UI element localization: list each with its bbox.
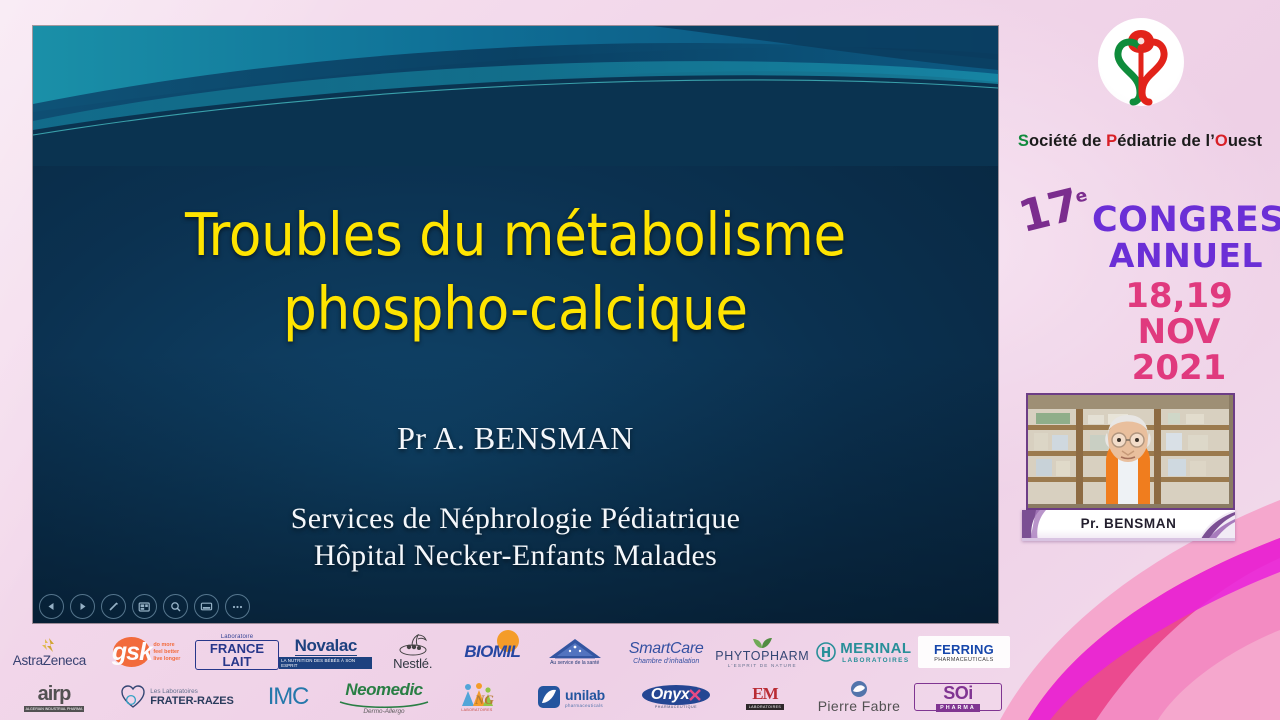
- saidal-mark-icon: [547, 638, 603, 660]
- onyx-x-icon: [689, 689, 701, 701]
- neomedic-label: Neomedic: [345, 680, 422, 700]
- merinal-mark-icon: [816, 642, 836, 662]
- astrazeneca-logo: AstraZeneca: [0, 630, 99, 674]
- smartcare-logo: SmartCare Chambre d’inhalation: [618, 630, 715, 674]
- onyx-pill: Onyx: [642, 685, 710, 705]
- biomil-logo: BIOMIL: [453, 630, 532, 674]
- ferring-sub: PHARMACEUTICALS: [934, 657, 993, 663]
- speaker-caption-text: Pr. BENSMAN: [1022, 516, 1235, 531]
- em-label: EM: [752, 684, 777, 704]
- airp-label: airp: [38, 683, 71, 706]
- speaker-video-frame[interactable]: [1026, 393, 1235, 510]
- airp-sub: ALGERIAN INDUSTRIAL PHARMA: [24, 706, 85, 712]
- novalac-sub: LA NUTRITION DES BÉBÉS À SON ESPRIT: [279, 657, 372, 669]
- neomedic-swoosh-icon: [338, 700, 430, 708]
- zoom-icon[interactable]: [163, 594, 188, 619]
- unilab-sub: pharmaceuticals: [565, 703, 603, 708]
- gsk-tagline: do more feel better live longer: [153, 642, 180, 663]
- sponsor-row-1: AstraZeneca gsk do more feel better live…: [0, 630, 1010, 674]
- onyx-sub: PHARMACEUTIQUE: [655, 705, 697, 709]
- congress-headline-line2: ANNUEL: [1092, 238, 1280, 273]
- merinal-logo: MERINAL LABORATOIRES: [810, 630, 918, 674]
- france-lait-label: FRANCE LAIT: [195, 640, 279, 670]
- association-name-part: O: [1215, 132, 1228, 150]
- france-lait-logo: Laboratoire FRANCE LAIT: [195, 630, 279, 674]
- sponsor-strip: AstraZeneca gsk do more feel better live…: [0, 628, 1010, 720]
- gsk-mark-icon: gsk: [113, 637, 150, 667]
- merinal-label: MERINAL: [840, 640, 911, 657]
- speaker-video-tile[interactable]: Pr. BENSMAN: [1026, 393, 1231, 545]
- imc-label: IMC: [268, 683, 308, 711]
- presentation-screen: Troubles du métabolisme phospho-calcique…: [0, 0, 1280, 720]
- saidal-label: Au service de la santé: [550, 660, 599, 666]
- frater-razes-sup: Les Laboratoires: [150, 688, 198, 695]
- neomedic-sub: Dermo-Allergo: [363, 708, 404, 715]
- more-options-icon[interactable]: [225, 594, 250, 619]
- association-name: Société de Pédiatrie de l’Ouest: [1000, 132, 1280, 151]
- airp-logo: airp ALGERIAN INDUSTRIAL PHARMA: [0, 676, 108, 718]
- previous-slide-icon[interactable]: [39, 594, 64, 619]
- congress-edition: 17e: [1014, 177, 1094, 243]
- novalac-label: Novalac: [295, 636, 357, 656]
- association-name-part: P: [1106, 132, 1117, 150]
- ng-laboratoires-sub: LABORATOIRES: [461, 708, 492, 712]
- frater-razes-logo: Les Laboratoires FRATER-RAZES: [108, 676, 246, 718]
- association-name-part: S: [1018, 132, 1029, 150]
- slide-canvas[interactable]: Troubles du métabolisme phospho-calcique…: [33, 26, 998, 623]
- gsk-label: gsk: [112, 638, 152, 667]
- gsk-logo: gsk do more feel better live longer: [99, 630, 195, 674]
- speaker-caption-bar: Pr. BENSMAN: [1022, 510, 1235, 541]
- neomedic-logo: Neomedic Dermo-Allergo: [330, 676, 438, 718]
- pierre-fabre-mark-icon: [850, 680, 868, 698]
- onyx-label: Onyx: [651, 686, 689, 704]
- societe-pediatrie-ouest-logo: [1098, 18, 1184, 106]
- pierre-fabre-label: Pierre Fabre: [818, 698, 901, 714]
- congress-headline-line1: CONGRES: [1092, 202, 1280, 239]
- phytopharm-label: PHYTOPHARM: [715, 649, 809, 663]
- biomil-label: BIOMIL: [464, 642, 520, 662]
- slide-title: Troubles du métabolisme phospho-calcique: [33, 198, 998, 346]
- phytopharm-leaf-icon: [751, 637, 773, 649]
- nestle-label: Nestlé.: [393, 656, 432, 671]
- ng-laboratoires-logo: NG LABORATOIRES: [438, 676, 516, 718]
- em-logo: EM LABORATOIRES: [726, 676, 804, 718]
- astrazeneca-mark-icon: [39, 637, 59, 653]
- congress-dates: 18,19 NOV 2021: [1084, 278, 1274, 386]
- imc-logo: IMC: [246, 676, 330, 718]
- frater-razes-heart-icon: [120, 684, 146, 710]
- em-sub: LABORATOIRES: [746, 704, 784, 710]
- slide-affiliation: Services de Néphrologie Pédiatrique Hôpi…: [33, 500, 998, 574]
- unilab-label: unilab: [565, 687, 605, 703]
- slide-author: Pr A. BENSMAN: [33, 420, 998, 457]
- ferring-label: FERRING: [934, 642, 994, 657]
- unilab-logo: unilab pharmaceuticals: [516, 676, 626, 718]
- saidal-logo: Au service de la santé: [532, 630, 618, 674]
- phytopharm-logo: PHYTOPHARM L'ESPRIT DE NATURE: [715, 630, 810, 674]
- slide-grid-icon[interactable]: [132, 594, 157, 619]
- smartcare-sub: Chambre d’inhalation: [633, 658, 699, 665]
- congress-info: 17e CONGRES ANNUEL 18,19 NOV 2021: [1004, 186, 1280, 371]
- ferring-logo: FERRING PHARMACEUTICALS: [918, 636, 1010, 668]
- association-name-part: édiatrie de l’: [1117, 132, 1215, 150]
- speaker-webcam-image: [1028, 395, 1229, 504]
- frater-razes-label: FRATER-RAZES: [150, 695, 234, 707]
- smartcare-label: SmartCare: [629, 640, 704, 658]
- soi-pharma-logo: SOi PHARMA: [914, 683, 1002, 711]
- association-name-part: ociété de: [1029, 132, 1106, 150]
- nestle-logo: Nestlé.: [372, 630, 453, 674]
- pierre-fabre-logo: Pierre Fabre: [804, 676, 914, 718]
- next-slide-icon[interactable]: [70, 594, 95, 619]
- unilab-mark-icon: [537, 685, 561, 709]
- svg-text:NG: NG: [474, 692, 494, 707]
- astrazeneca-label: AstraZeneca: [13, 653, 86, 668]
- novalac-logo: Novalac LA NUTRITION DES BÉBÉS À SON ESP…: [279, 630, 372, 674]
- merinal-sub: LABORATOIRES: [842, 657, 909, 664]
- phytopharm-sub: L'ESPRIT DE NATURE: [728, 663, 797, 668]
- captions-icon[interactable]: [194, 594, 219, 619]
- soi-pharma-sub: PHARMA: [936, 704, 980, 712]
- onyx-logo: Onyx PHARMACEUTIQUE: [626, 676, 726, 718]
- soi-pharma-label: SOi: [943, 683, 973, 704]
- presenter-toolbar: [39, 594, 250, 619]
- pen-icon[interactable]: [101, 594, 126, 619]
- ng-people-icon: NG: [459, 682, 495, 708]
- nestle-nest-icon: [396, 634, 430, 656]
- sponsor-row-2: airp ALGERIAN INDUSTRIAL PHARMA Les Labo…: [0, 676, 1010, 718]
- association-name-part: uest: [1228, 132, 1262, 150]
